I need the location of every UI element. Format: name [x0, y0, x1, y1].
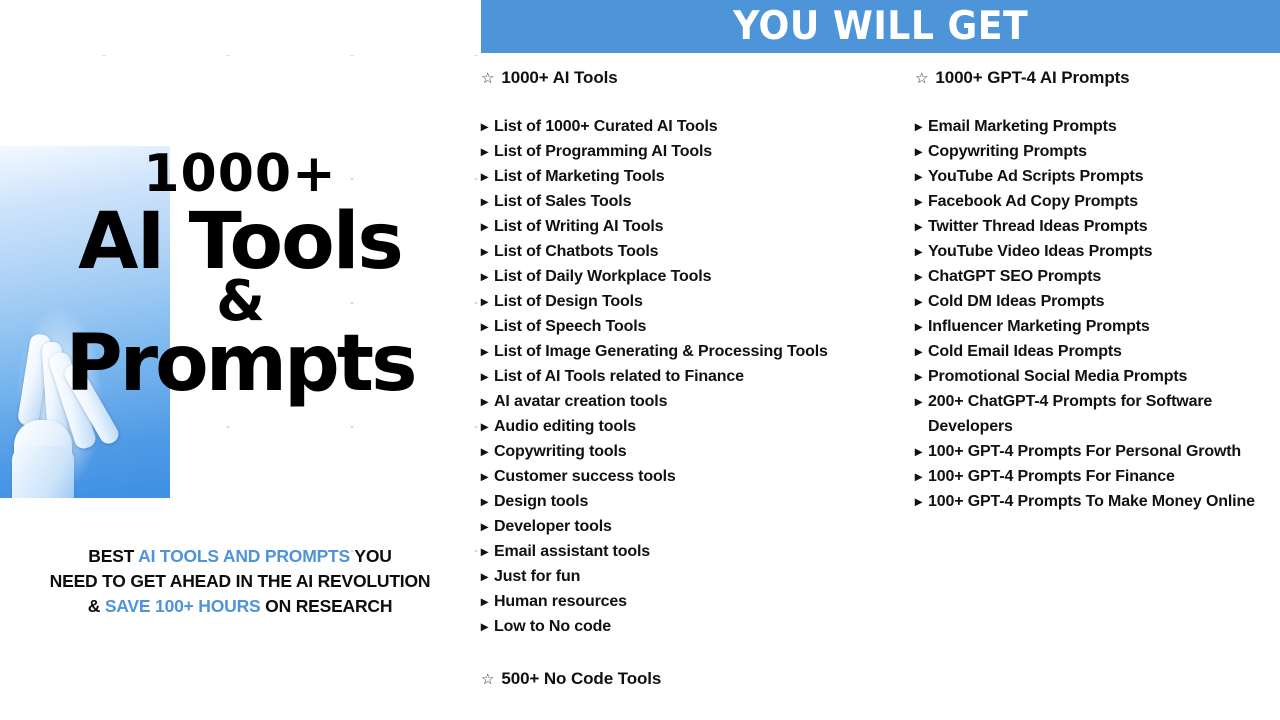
promo-headline: 1000+ AI Tools & Prompts [0, 150, 480, 401]
promo-tagline: BEST AI TOOLS AND PROMPTS YOU NEED TO GE… [0, 544, 480, 619]
list-item: Developer tools [481, 514, 909, 539]
list-item: Cold DM Ideas Prompts [915, 289, 1265, 314]
list-item: Low to No code [481, 614, 909, 639]
list-item: ChatGPT SEO Prompts [915, 264, 1265, 289]
list-item: Influencer Marketing Prompts [915, 314, 1265, 339]
column-prompts: ☆ 1000+ GPT-4 AI Prompts Email Marketing… [915, 68, 1265, 514]
banner-title: YOU WILL GET [733, 4, 1028, 49]
tagline-accent-2: SAVE 100+ HOURS [105, 596, 261, 616]
headline-ai-tools: AI Tools [0, 205, 480, 279]
list-item: Email Marketing Prompts [915, 114, 1265, 139]
you-will-get-banner: YOU WILL GET [481, 0, 1280, 53]
headline-prompts: Prompts [0, 327, 480, 401]
group-heading-ai-tools: ☆ 1000+ AI Tools [481, 68, 909, 88]
ai-tools-list: List of 1000+ Curated AI Tools List of P… [481, 114, 909, 639]
list-item: Email assistant tools [481, 539, 909, 564]
list-item: Audio editing tools [481, 414, 909, 439]
star-outline-icon: ☆ [481, 672, 494, 687]
group-heading-label: 1000+ AI Tools [501, 68, 617, 88]
list-item: 200+ ChatGPT-4 Prompts for Software Deve… [915, 389, 1265, 439]
tagline-text: BEST [88, 546, 138, 566]
gpt4-prompts-list: Email Marketing Prompts Copywriting Prom… [915, 114, 1265, 514]
list-item: Customer success tools [481, 464, 909, 489]
list-item: 100+ GPT-4 Prompts For Personal Growth [915, 439, 1265, 464]
list-item: Twitter Thread Ideas Prompts [915, 214, 1265, 239]
list-item: YouTube Video Ideas Prompts [915, 239, 1265, 264]
list-item: Facebook Ad Copy Prompts [915, 189, 1265, 214]
list-item: List of AI Tools related to Finance [481, 364, 909, 389]
list-item: Design tools [481, 489, 909, 514]
list-item: List of Design Tools [481, 289, 909, 314]
tagline-text: ON RESEARCH [261, 596, 393, 616]
group-heading-no-code-tools: ☆ 500+ No Code Tools [481, 669, 909, 689]
list-item: List of Sales Tools [481, 189, 909, 214]
list-item: List of Image Generating & Processing To… [481, 339, 909, 364]
tagline-text: & [88, 596, 105, 616]
group-heading-gpt4-prompts: ☆ 1000+ GPT-4 AI Prompts [915, 68, 1265, 88]
list-item: AI avatar creation tools [481, 389, 909, 414]
group-heading-label: 1000+ GPT-4 AI Prompts [935, 68, 1129, 88]
left-promo-panel: 1000+ AI Tools & Prompts BEST AI TOOLS A… [0, 0, 480, 720]
column-tools: ☆ 1000+ AI Tools List of 1000+ Curated A… [481, 68, 909, 689]
tagline-text: YOU [350, 546, 392, 566]
tagline-line-1: BEST AI TOOLS AND PROMPTS YOU [0, 544, 480, 569]
list-item: Copywriting tools [481, 439, 909, 464]
spacer [481, 88, 909, 114]
spacer [481, 639, 909, 669]
star-outline-icon: ☆ [481, 71, 494, 86]
list-item: List of Programming AI Tools [481, 139, 909, 164]
list-item: List of 1000+ Curated AI Tools [481, 114, 909, 139]
tagline-line-2: NEED TO GET AHEAD IN THE AI REVOLUTION [0, 569, 480, 594]
robot-wrist [12, 446, 74, 498]
list-item: List of Marketing Tools [481, 164, 909, 189]
spacer [915, 88, 1265, 114]
list-item: List of Chatbots Tools [481, 239, 909, 264]
list-item: Promotional Social Media Prompts [915, 364, 1265, 389]
star-outline-icon: ☆ [915, 71, 928, 86]
headline-count: 1000+ [0, 150, 480, 199]
list-item: 100+ GPT-4 Prompts For Finance [915, 464, 1265, 489]
list-item: Cold Email Ideas Prompts [915, 339, 1265, 364]
tagline-accent-1: AI TOOLS AND PROMPTS [138, 546, 350, 566]
group-heading-label: 500+ No Code Tools [501, 669, 661, 689]
tagline-line-3: & SAVE 100+ HOURS ON RESEARCH [0, 594, 480, 619]
list-item: YouTube Ad Scripts Prompts [915, 164, 1265, 189]
list-item: List of Daily Workplace Tools [481, 264, 909, 289]
list-item: List of Writing AI Tools [481, 214, 909, 239]
list-item: Copywriting Prompts [915, 139, 1265, 164]
list-item: 100+ GPT-4 Prompts To Make Money Online [915, 489, 1265, 514]
list-item: Just for fun [481, 564, 909, 589]
list-item: Human resources [481, 589, 909, 614]
list-item: List of Speech Tools [481, 314, 909, 339]
